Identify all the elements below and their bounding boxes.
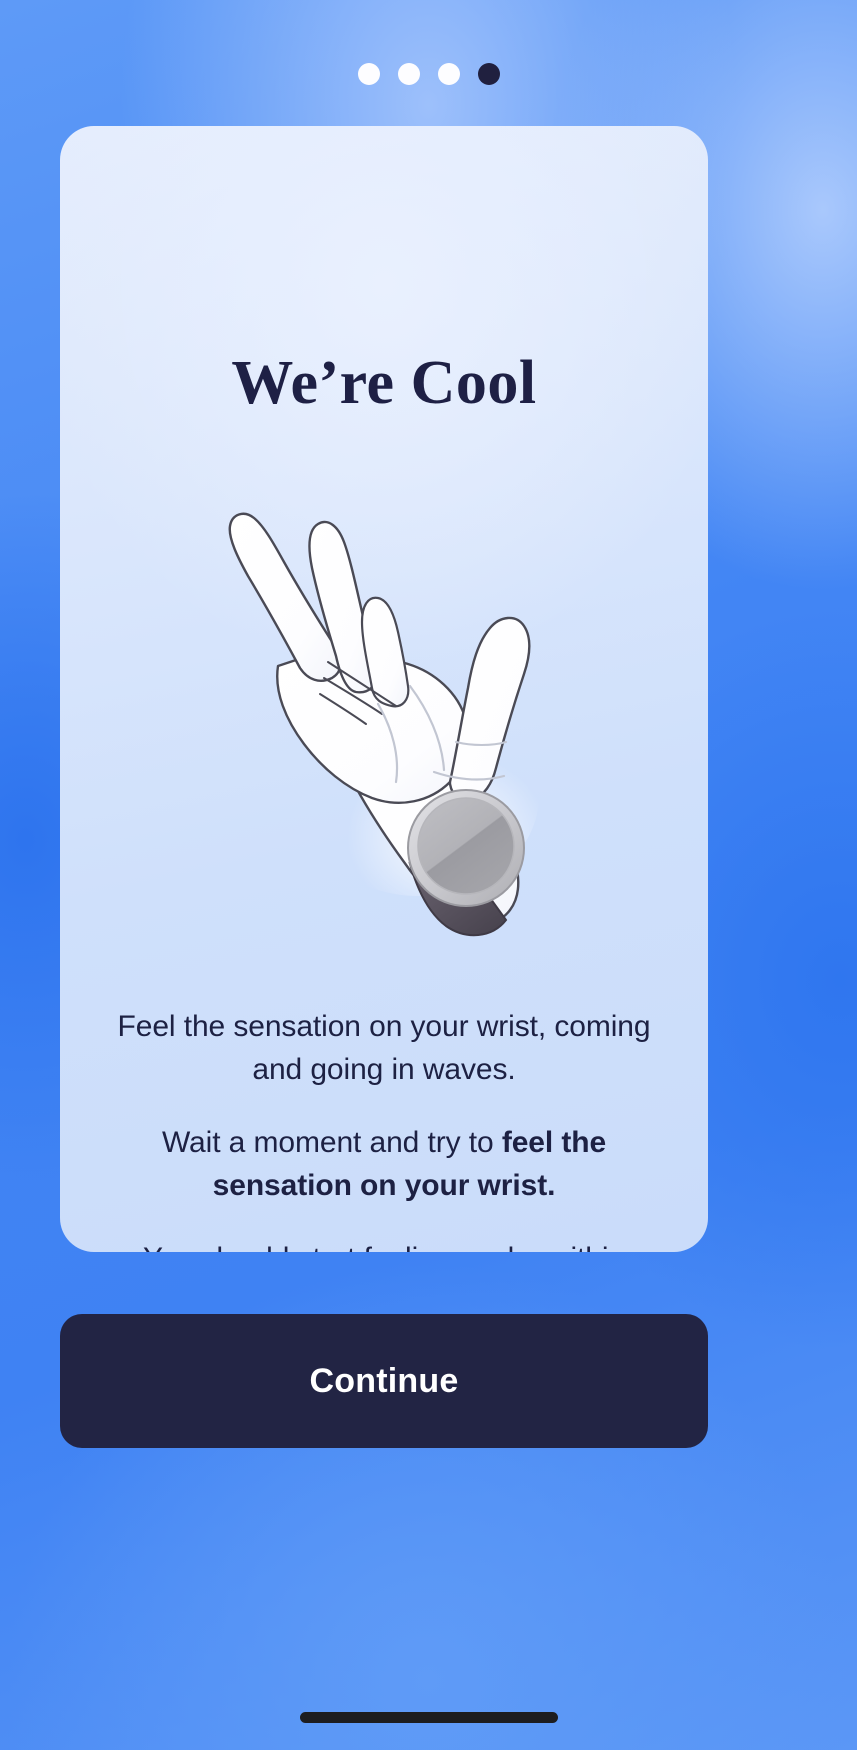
progress-dot-2[interactable]: [398, 63, 420, 85]
paragraph-sensation: Feel the sensation on your wrist, coming…: [102, 1006, 666, 1092]
page-title: We’re Cool: [60, 348, 708, 419]
progress-dots: [0, 63, 857, 85]
paragraph-wait-text-normal: Wait a moment and try to: [162, 1126, 502, 1159]
content-card: We’re Cool: [60, 126, 708, 1252]
paragraph-sensation-text: Feel the sensation on your wrist, coming…: [118, 1010, 651, 1086]
home-indicator[interactable]: [300, 1712, 558, 1723]
paragraph-wait: Wait a moment and try to feel the sensat…: [102, 1122, 666, 1208]
paragraph-cooler: You should start feeling cooler within s…: [102, 1238, 666, 1252]
progress-dot-3[interactable]: [438, 63, 460, 85]
progress-dot-1[interactable]: [358, 63, 380, 85]
progress-dot-4[interactable]: [478, 63, 500, 85]
paragraph-cooler-text: You should start feeling cooler within s…: [143, 1242, 625, 1252]
watch-face: [418, 798, 514, 894]
continue-button[interactable]: Continue: [60, 1314, 708, 1448]
phone-screen: We’re Cool: [0, 0, 857, 1750]
hand-with-smartwatch-illustration: [60, 496, 708, 946]
instruction-copy: Feel the sensation on your wrist, coming…: [102, 1006, 666, 1252]
